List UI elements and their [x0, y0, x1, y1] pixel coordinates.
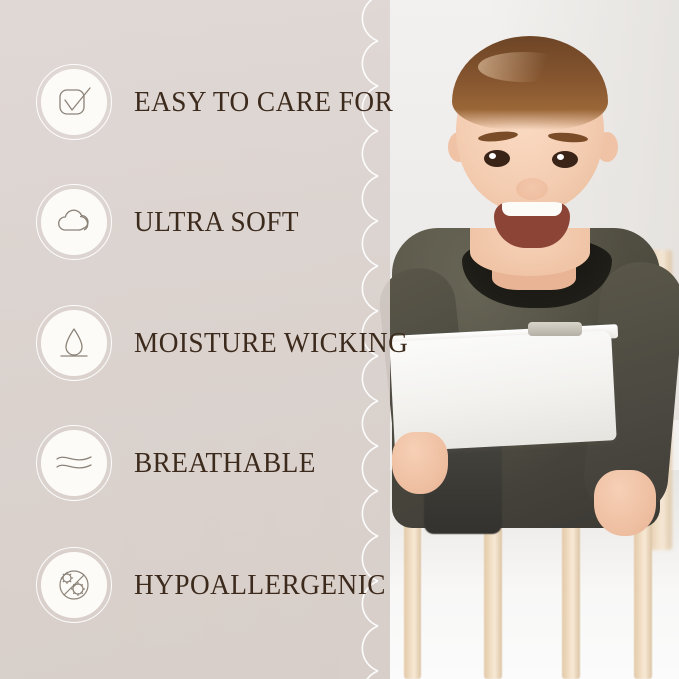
feature-item-ultra-soft: ULTRA SOFT [36, 184, 310, 260]
air-waves-icon [41, 430, 107, 496]
feature-item-moisture-wicking: MOISTURE WICKING [36, 305, 426, 381]
feature-label: ULTRA SOFT [134, 206, 299, 239]
feature-item-easy-to-care-for: EASY TO CARE FOR [36, 64, 410, 140]
hair-highlight [478, 52, 570, 82]
outfit-snap-tab [528, 322, 582, 336]
feature-icon-badge [36, 547, 112, 623]
feature-item-hypoallergenic: HYPOALLERGENIC [36, 547, 402, 623]
feature-label: EASY TO CARE FOR [134, 86, 393, 119]
feature-icon-badge [36, 184, 112, 260]
baby-hand [594, 470, 656, 536]
feature-icon-badge [36, 305, 112, 381]
feature-label: BREATHABLE [134, 447, 316, 480]
feature-label: MOISTURE WICKING [134, 327, 408, 360]
baby-eye [552, 151, 578, 168]
baby-eye [484, 150, 510, 167]
water-droplet-icon [41, 310, 107, 376]
feature-icon-badge [36, 425, 112, 501]
feature-item-breathable: BREATHABLE [36, 425, 328, 501]
feature-label: HYPOALLERGENIC [134, 569, 386, 602]
product-feature-infographic: EASY TO CARE FOR ULTRA SOFT [0, 0, 679, 679]
baby-nose [516, 178, 548, 200]
feature-list: EASY TO CARE FOR ULTRA SOFT [0, 0, 390, 679]
baby-hand [392, 432, 448, 494]
feature-icon-badge [36, 64, 112, 140]
cloud-icon [41, 189, 107, 255]
check-square-icon [41, 69, 107, 135]
no-allergens-icon [41, 552, 107, 618]
eye-highlight [557, 154, 564, 160]
eye-highlight [489, 153, 496, 159]
baby-teeth [502, 202, 562, 216]
